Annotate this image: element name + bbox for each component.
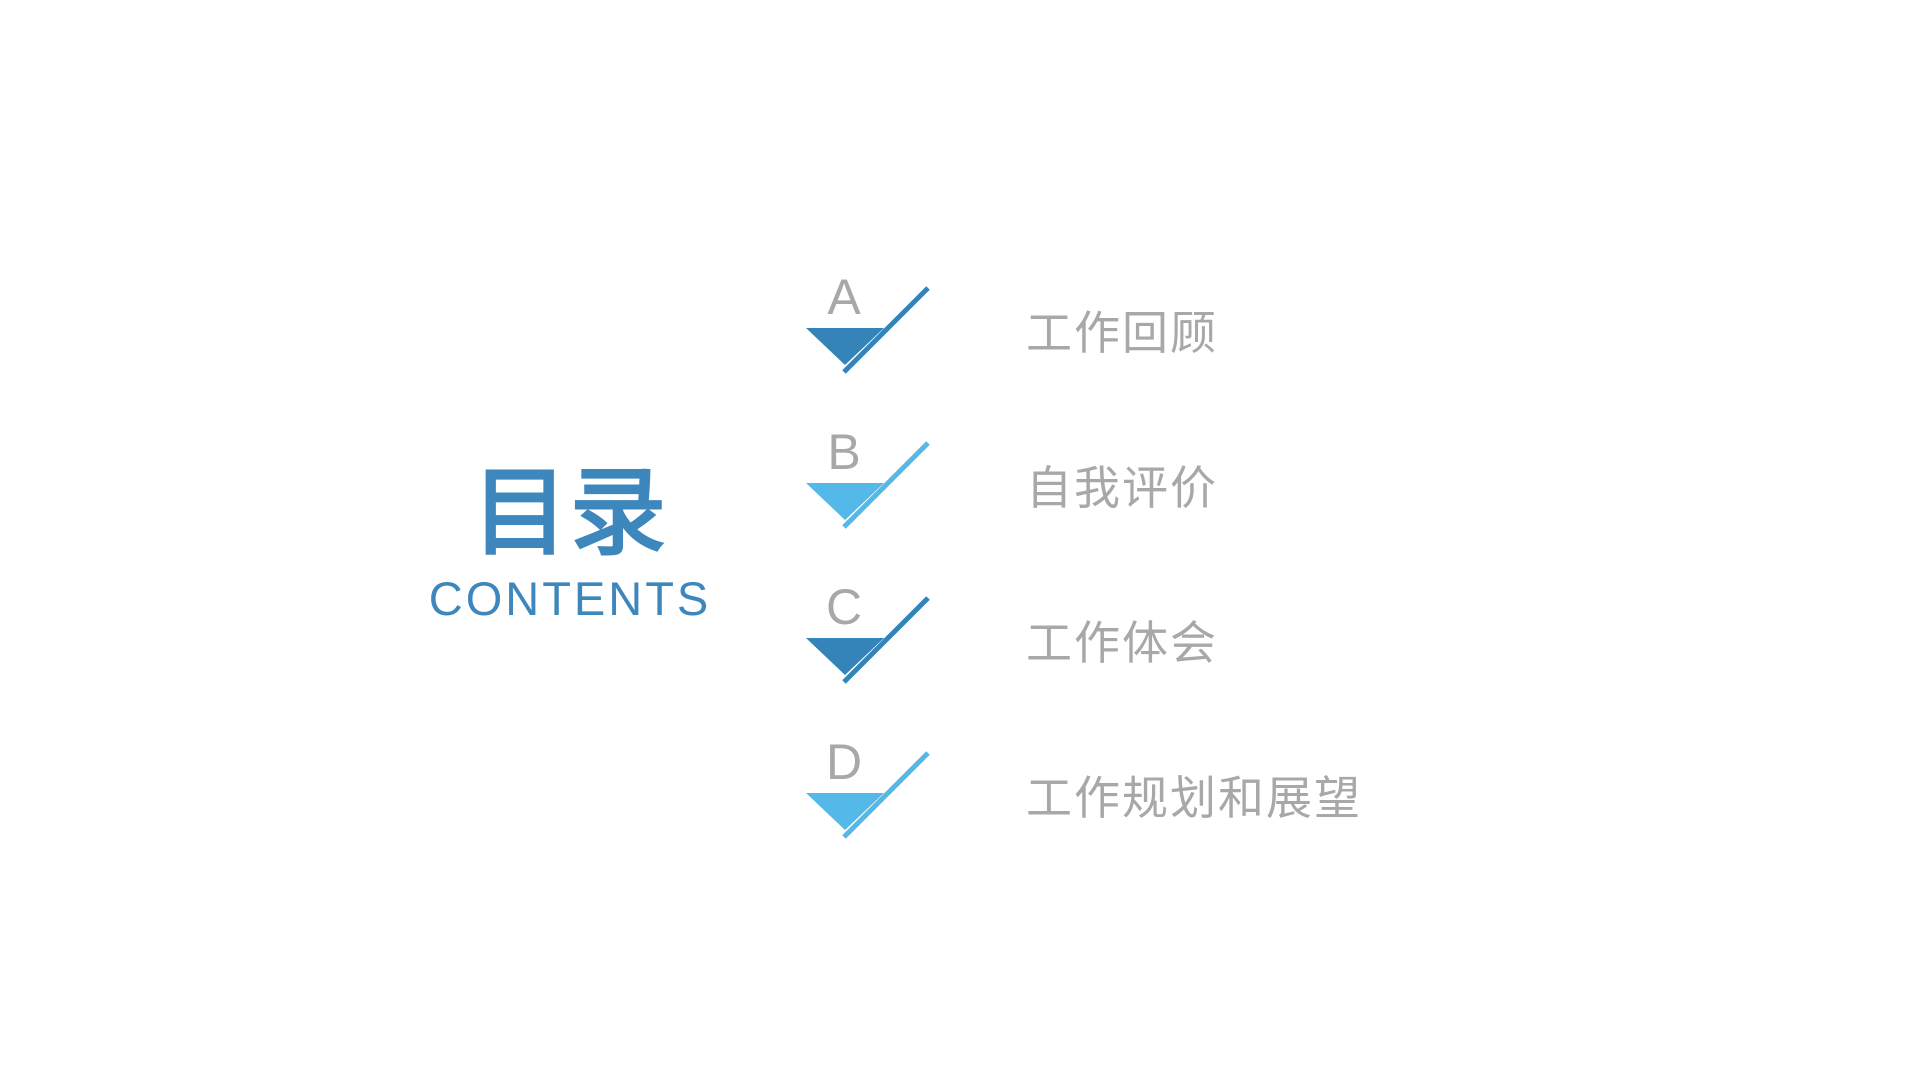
- list-item[interactable]: D 工作规划和展望: [790, 733, 1790, 888]
- item-letter: A: [814, 272, 874, 322]
- page-title-cn: 目录: [360, 465, 780, 563]
- item-letter: D: [814, 737, 874, 787]
- item-label: 自我评价: [1026, 463, 1218, 514]
- list-item[interactable]: B 自我评价: [790, 423, 1790, 578]
- item-letter: C: [814, 582, 874, 632]
- page-title-en: CONTENTS: [360, 573, 780, 625]
- item-letter: B: [814, 427, 874, 477]
- list-item[interactable]: A 工作回顾: [790, 268, 1790, 423]
- item-label: 工作规划和展望: [1026, 773, 1362, 824]
- contents-list: A 工作回顾 B 自我评价 C 工作体会: [790, 268, 1790, 888]
- item-label: 工作体会: [1026, 618, 1218, 669]
- contents-title-block: 目录 CONTENTS: [360, 465, 780, 625]
- slide-canvas: 目录 CONTENTS A 工作回顾 B 自我评价: [0, 0, 1920, 1080]
- list-item[interactable]: C 工作体会: [790, 578, 1790, 733]
- item-label: 工作回顾: [1026, 308, 1218, 359]
